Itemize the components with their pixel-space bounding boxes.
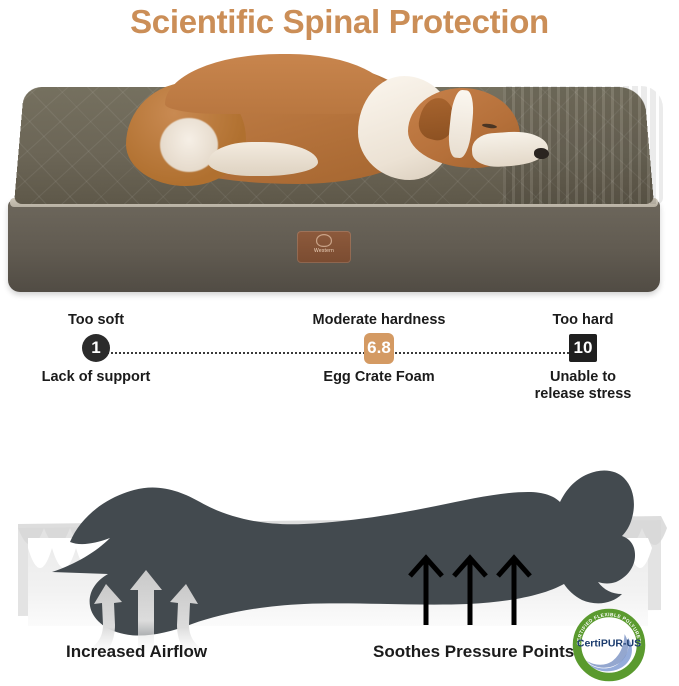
pressure-arrows [410, 558, 530, 625]
certipur-us-badge: CONTAINS CERTIFIED FLEXIBLE POLYURETHANE… [570, 606, 648, 684]
page-title: Scientific Spinal Protection [0, 0, 679, 44]
firmness-scale: Too soft 1 Lack of support Moderate hard… [0, 300, 679, 418]
scale-stop-moderate-marker-row: 6.8 [283, 332, 475, 364]
caption-soothes-pressure-points: Soothes Pressure Points [373, 642, 574, 662]
dog-nose [534, 148, 549, 159]
sleeping-dog [120, 54, 540, 214]
scale-stop-too-soft: Too soft 1 Lack of support [0, 312, 192, 386]
brand-tag-text: Western [297, 248, 351, 254]
scale-stop-too-hard: Too hard 10 Unable to release stress [487, 312, 679, 403]
scale-stop-too-soft-desc: Lack of support [0, 369, 192, 386]
scale-stop-too-hard-title: Too hard [487, 312, 679, 329]
hero-product-photo: Western [0, 48, 679, 296]
scale-stop-too-soft-marker-row: 1 [0, 332, 192, 364]
scale-stop-too-hard-marker-row: 10 [487, 332, 679, 364]
infographic-page: Scientific Spinal Protection Western [0, 0, 679, 686]
brand-tag: Western [297, 231, 351, 263]
scale-stop-too-soft-title: Too soft [0, 312, 192, 329]
brand-logo-icon [316, 234, 332, 247]
scale-stop-moderate-title: Moderate hardness [283, 312, 475, 329]
dog-front-paws [208, 142, 318, 176]
scale-stop-moderate: Moderate hardness 6.8 Egg Crate Foam [283, 312, 475, 386]
scale-marker-6-8: 6.8 [364, 333, 394, 364]
scale-marker-1: 1 [82, 334, 110, 362]
caption-increased-airflow: Increased Airflow [66, 642, 207, 662]
scale-stop-too-hard-desc-line2: release stress [487, 386, 679, 403]
scale-stop-too-hard-desc-line1: Unable to [487, 369, 679, 386]
dog-back [165, 54, 395, 114]
badge-main-text: CertiPUR-US [577, 638, 641, 650]
scale-marker-10: 10 [569, 334, 597, 362]
scale-stop-moderate-desc: Egg Crate Foam [283, 369, 475, 386]
